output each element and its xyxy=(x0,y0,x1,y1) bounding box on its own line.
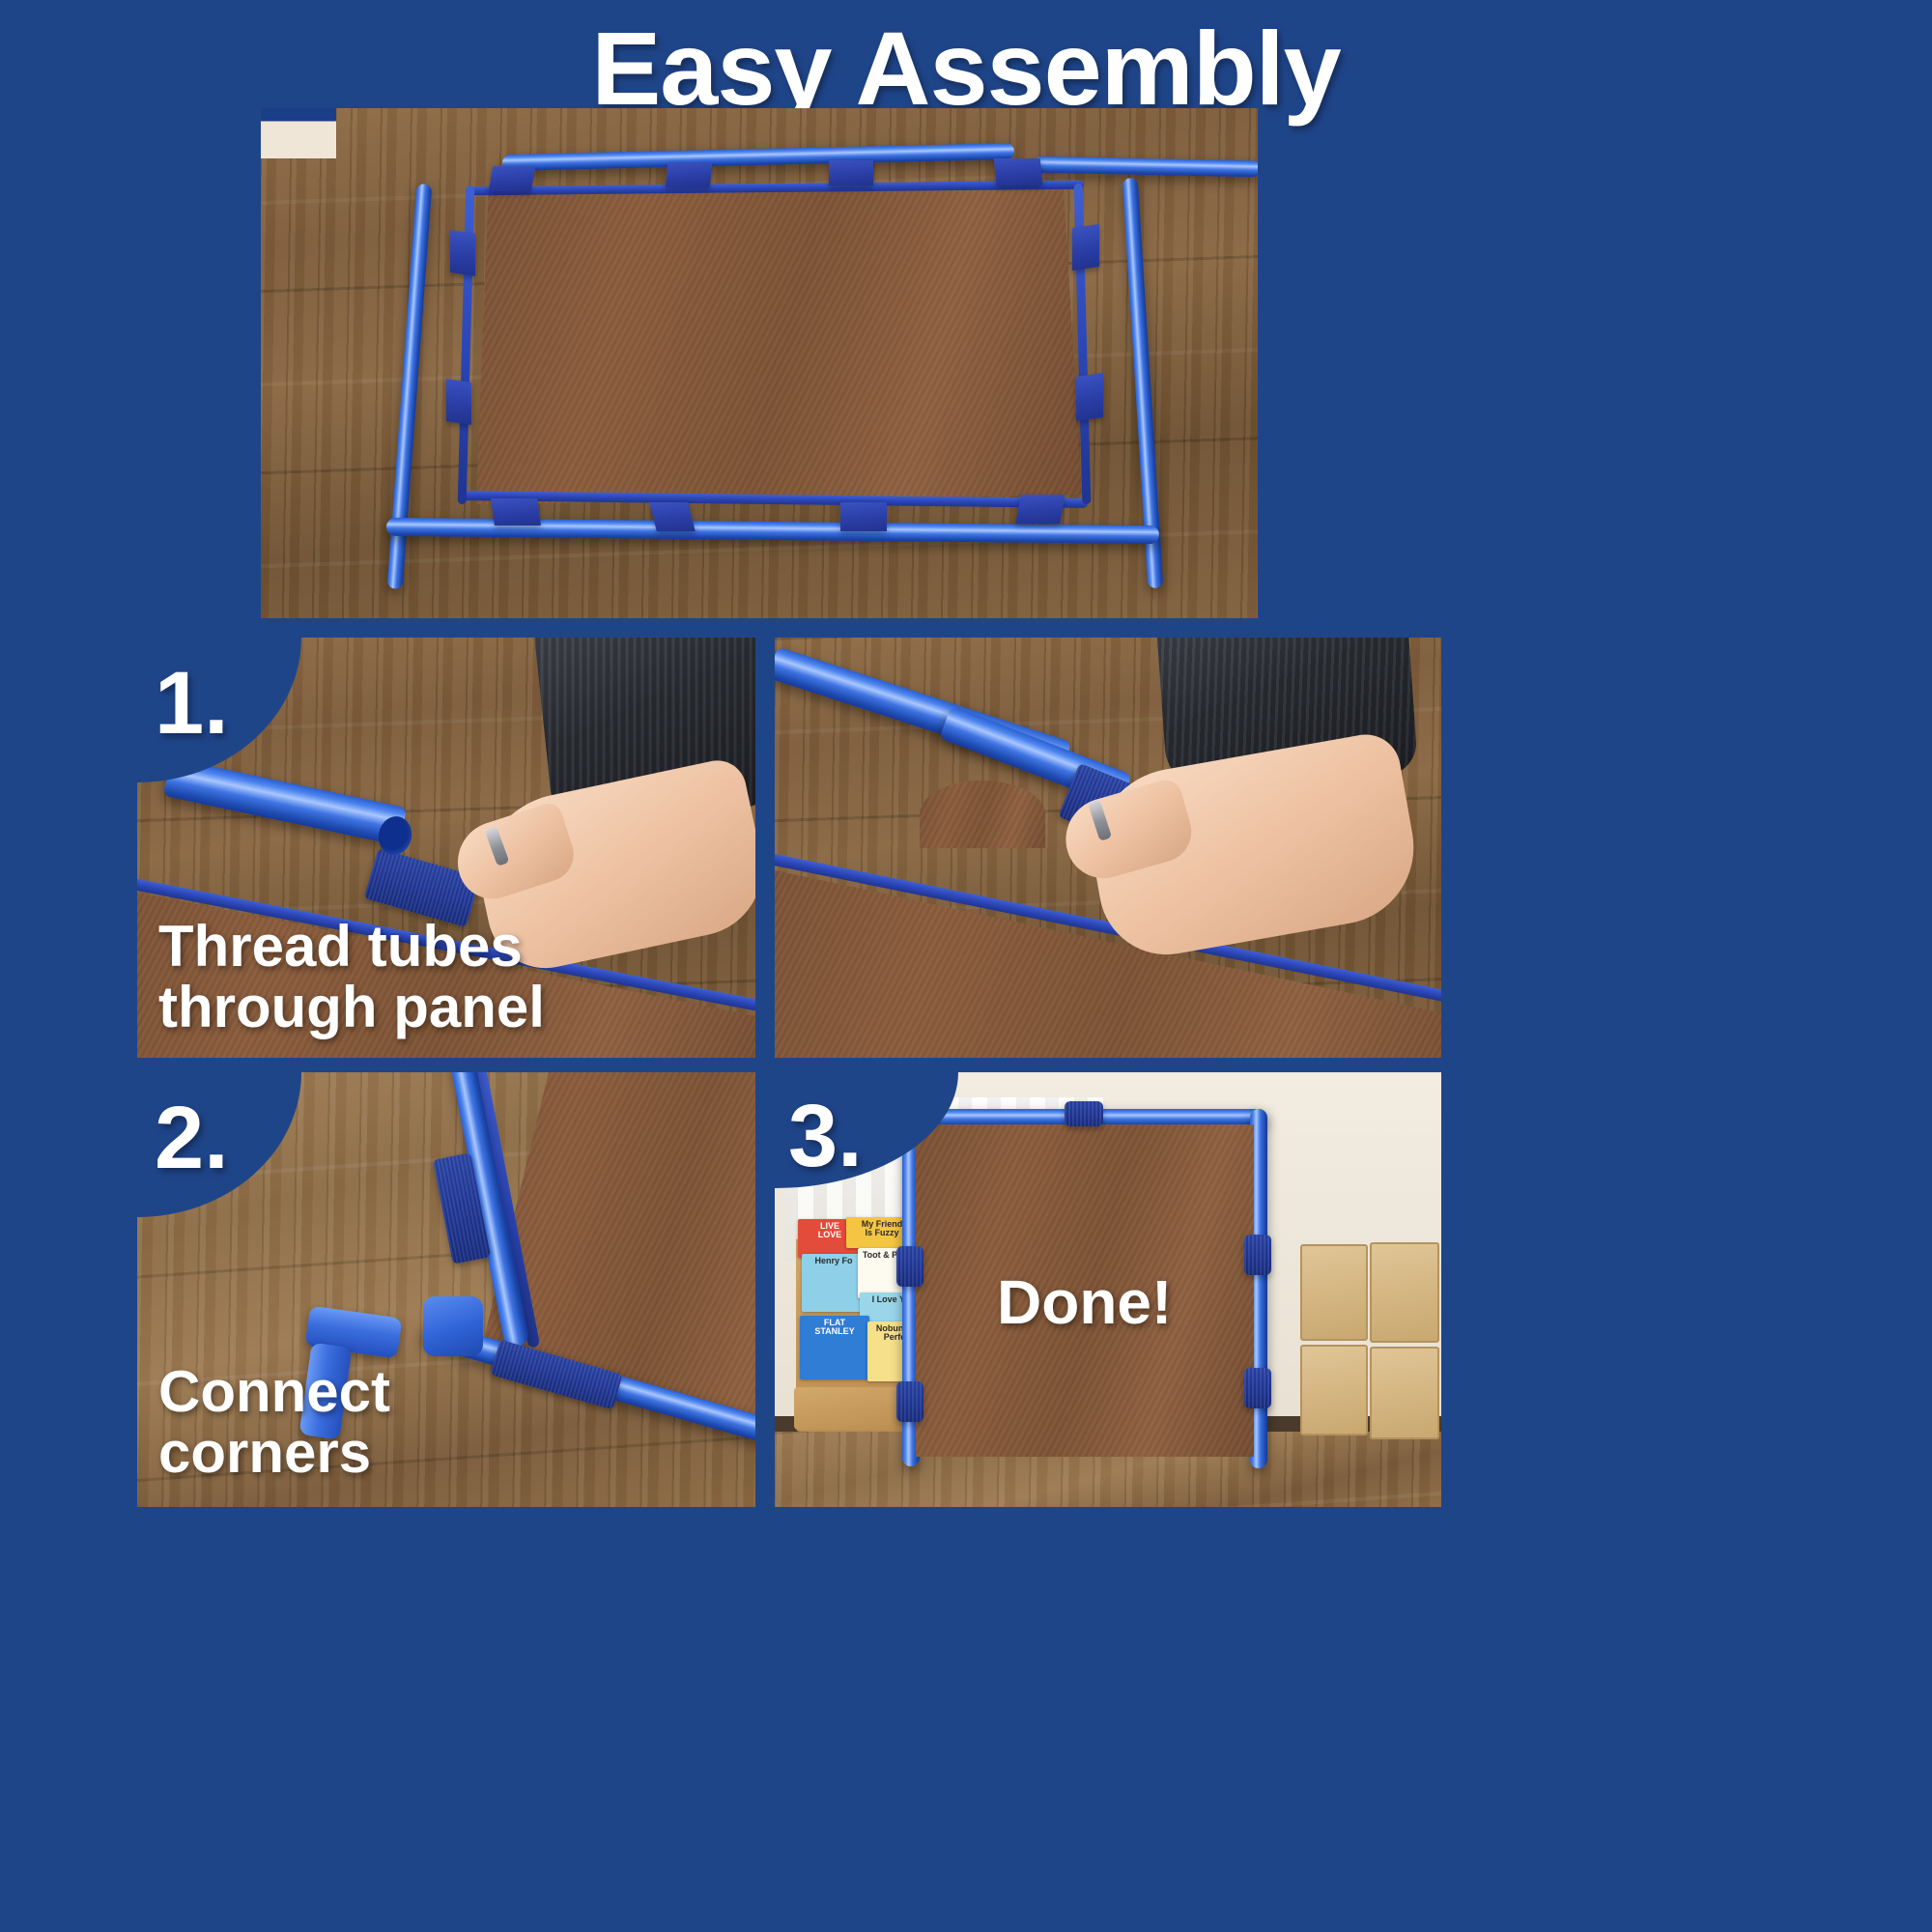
step-1-number: 1. xyxy=(155,659,229,748)
panel-tab xyxy=(649,502,695,531)
panel-tab xyxy=(446,379,471,425)
book: Henry Fo xyxy=(802,1254,866,1312)
fabric-bump xyxy=(920,781,1045,848)
divider-tab xyxy=(1065,1101,1103,1126)
panel-tab xyxy=(491,498,541,526)
corner-joint xyxy=(423,1296,483,1356)
step-3-number: 3. xyxy=(788,1092,863,1180)
step-2-caption: Connect corners xyxy=(158,1361,390,1484)
cabinet xyxy=(1370,1242,1439,1343)
panel-tab xyxy=(1072,224,1099,270)
step-2-card: 2. Connect corners xyxy=(137,1072,755,1507)
step-1-card: 1. Thread tubes through panel xyxy=(137,638,755,1058)
divider-tab xyxy=(1244,1368,1271,1408)
panel-tab xyxy=(994,158,1042,185)
panel-tab xyxy=(666,162,713,187)
panel-tab xyxy=(840,502,887,531)
step-3-caption: Done! xyxy=(997,1270,1172,1336)
page-title: Easy Assembly xyxy=(0,14,1932,123)
panel-tab xyxy=(1015,495,1065,524)
panel-tab xyxy=(489,166,536,191)
book: FLATSTANLEY xyxy=(800,1316,869,1379)
step-2-number: 2. xyxy=(155,1094,229,1182)
panel-tab xyxy=(450,230,475,276)
poster-canvas: Easy Assembly xyxy=(0,0,1932,1932)
divider-tab xyxy=(896,1381,923,1422)
step-1b-card xyxy=(775,638,1441,1058)
panel-tab xyxy=(829,160,873,185)
step-3-card: LIVELOVE My FriendIs Fuzzy Henry Fo Toot… xyxy=(775,1072,1441,1507)
cabinet xyxy=(1300,1244,1368,1341)
fabric-panel xyxy=(464,185,1082,504)
step-1-caption: Thread tubes through panel xyxy=(158,916,545,1038)
cabinet xyxy=(1300,1345,1368,1435)
divider-tab xyxy=(1244,1235,1271,1275)
overview-photo xyxy=(261,108,1258,618)
cabinet xyxy=(1370,1347,1439,1439)
panel-tab xyxy=(1076,373,1103,421)
divider-tab xyxy=(896,1246,923,1287)
wall-corner xyxy=(261,108,336,158)
